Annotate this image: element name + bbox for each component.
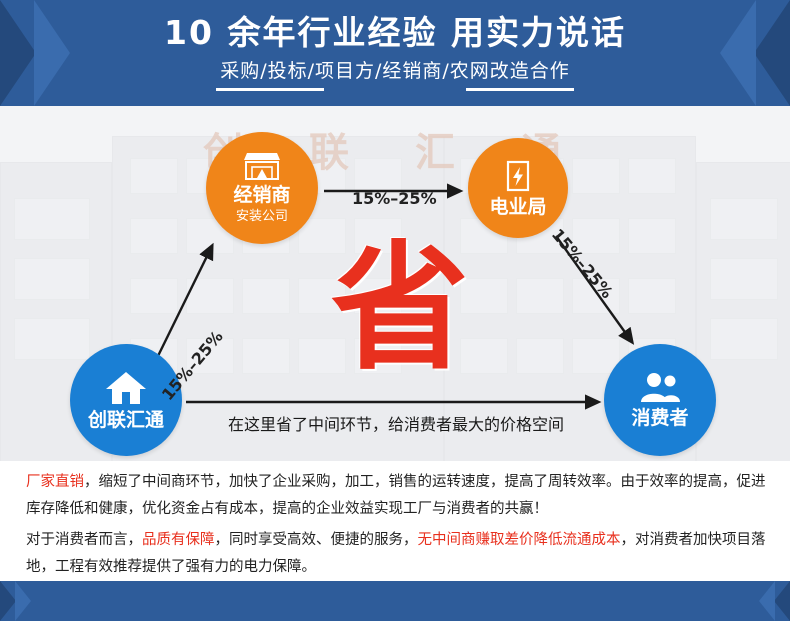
- highlighted-text: 厂家直销: [26, 474, 84, 490]
- node-company-label: 创联汇通: [88, 409, 164, 431]
- node-power-bureau[interactable]: 电业局: [468, 138, 568, 238]
- center-save-character: 省: [320, 238, 480, 378]
- user-group-icon: [638, 372, 682, 404]
- watermark-text: 创 联 汇 通: [0, 120, 790, 178]
- header-title: 10 余年行业经验 用实力说话: [0, 12, 790, 54]
- node-dealer-sublabel: 安装公司: [236, 208, 288, 225]
- node-consumer-label: 消费者: [631, 407, 688, 429]
- body-text: ，缩短了中间商环节，加快了企业采购，加工，销售的运转速度，提高了周转效率。由于效…: [26, 474, 766, 517]
- header-banner: 10 余年行业经验 用实力说话 采购/投标/项目方/经销商/农网改造合作: [0, 0, 790, 106]
- home-icon: [104, 370, 148, 406]
- node-consumer[interactable]: 消费者: [604, 344, 716, 456]
- footer-chevron-left-outer: [0, 581, 16, 621]
- node-dealer[interactable]: 经销商 安装公司: [206, 132, 318, 244]
- highlighted-text: 品质有保障: [142, 532, 215, 548]
- header-subtitle: 采购/投标/项目方/经销商/农网改造合作: [0, 58, 790, 84]
- highlighted-text: 无中间商赚取差价降低流通成本: [418, 532, 621, 548]
- footer-chevron-left-inner: [15, 581, 31, 621]
- node-company[interactable]: 创联汇通: [70, 344, 182, 456]
- arrow-label-top: 15%–25%: [352, 189, 437, 208]
- paragraph-1: 厂家直销，缩短了中间商环节，加快了企业采购，加工，销售的运转速度，提高了周转效率…: [26, 469, 770, 523]
- paragraph-2: 对于消费者而言，品质有保障，同时享受高效、便捷的服务，无中间商赚取差价降低流通成…: [26, 527, 770, 581]
- center-note: 在这里省了中间环节，给消费者最大的价格空间: [196, 411, 596, 435]
- header-underline-left: [216, 88, 324, 91]
- footer-chevron-right-outer: [774, 581, 790, 621]
- node-dealer-label: 经销商: [233, 184, 290, 206]
- power-building-icon: [501, 159, 535, 193]
- description-block: 厂家直销，缩短了中间商环节，加快了企业采购，加工，销售的运转速度，提高了周转效率…: [0, 461, 790, 581]
- node-power-bureau-label: 电业局: [489, 196, 546, 218]
- body-text: 对于消费者而言，: [26, 532, 142, 548]
- body-text: ，同时享受高效、便捷的服务，: [215, 532, 418, 548]
- shop-icon: [240, 151, 284, 181]
- footer-banner: [0, 581, 790, 621]
- flow-diagram: 创 联 汇 通 省: [0, 106, 790, 461]
- footer-chevron-right-inner: [759, 581, 775, 621]
- header-underline-right: [466, 88, 574, 91]
- promo-banner: 10 余年行业经验 用实力说话 采购/投标/项目方/经销商/农网改造合作: [0, 0, 790, 621]
